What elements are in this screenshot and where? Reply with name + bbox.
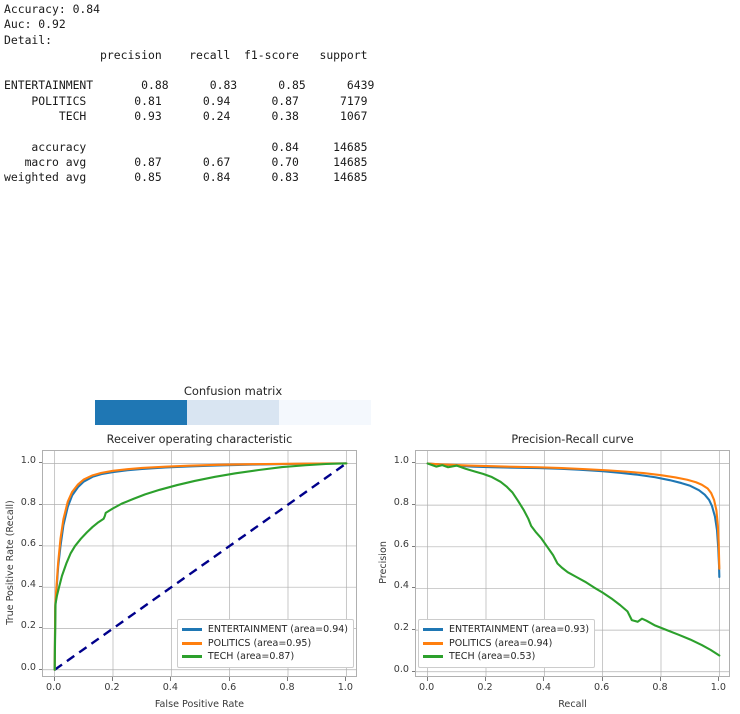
- y-tick-label: 0.4: [10, 579, 36, 590]
- x-tick-mark: [229, 677, 230, 681]
- legend-color-swatch-icon: [182, 655, 202, 658]
- y-tick-mark: [412, 546, 416, 547]
- roc-chart: Receiver operating characteristic False …: [0, 425, 370, 714]
- y-tick-label: 0.8: [10, 497, 36, 508]
- y-tick-mark: [39, 462, 43, 463]
- y-tick-label: 0.6: [10, 538, 36, 549]
- legend-label: TECH (area=0.87): [208, 650, 294, 664]
- x-tick-label: 0.8: [270, 682, 304, 693]
- pr-chart-title: Precision-Recall curve: [415, 433, 730, 446]
- y-tick-label: 0.0: [383, 664, 409, 675]
- legend-color-swatch-icon: [423, 642, 443, 645]
- y-tick-label: 1.0: [383, 455, 409, 466]
- y-tick-mark: [39, 669, 43, 670]
- roc-chart-title: Receiver operating characteristic: [42, 433, 357, 446]
- x-tick-mark: [718, 677, 719, 681]
- confusion-matrix-title: Confusion matrix: [95, 384, 371, 398]
- y-tick-label: 0.2: [10, 620, 36, 631]
- precision-recall-chart: Precision-Recall curve Recall Precision …: [370, 425, 740, 714]
- y-tick-label: 0.2: [383, 622, 409, 633]
- legend-label: POLITICS (area=0.94): [449, 637, 552, 651]
- x-tick-label: 1.0: [701, 682, 735, 693]
- pr-legend: ENTERTAINMENT (area=0.93)POLITICS (area=…: [418, 619, 595, 668]
- x-tick-mark: [287, 677, 288, 681]
- legend-color-swatch-icon: [182, 642, 202, 645]
- legend-item: ENTERTAINMENT (area=0.94): [182, 623, 348, 637]
- x-tick-mark: [112, 677, 113, 681]
- x-tick-mark: [543, 677, 544, 681]
- y-tick-label: 0.6: [383, 539, 409, 550]
- y-tick-mark: [39, 627, 43, 628]
- x-tick-mark: [602, 677, 603, 681]
- legend-item: TECH (area=0.87): [182, 650, 348, 664]
- roc-x-axis-label: False Positive Rate: [42, 699, 357, 710]
- x-tick-label: 0.0: [410, 682, 444, 693]
- x-tick-label: 1.0: [328, 682, 362, 693]
- confusion-matrix-figure: Confusion matrix True ENTERTAINMENT POLI…: [0, 190, 740, 420]
- y-tick-label: 0.4: [383, 580, 409, 591]
- x-tick-label: 0.0: [37, 682, 71, 693]
- x-tick-label: 0.8: [643, 682, 677, 693]
- y-tick-mark: [39, 586, 43, 587]
- legend-item: TECH (area=0.53): [423, 650, 589, 664]
- x-tick-label: 0.4: [526, 682, 560, 693]
- x-tick-label: 0.4: [153, 682, 187, 693]
- legend-label: ENTERTAINMENT (area=0.93): [449, 623, 589, 637]
- x-tick-mark: [485, 677, 486, 681]
- series-line: [428, 464, 720, 578]
- roc-y-axis-label: True Positive Rate (Recall): [5, 449, 16, 676]
- classification-report: Accuracy: 0.84 Auc: 0.92 Detail: precisi…: [4, 2, 374, 186]
- y-tick-mark: [412, 671, 416, 672]
- y-tick-mark: [412, 629, 416, 630]
- y-tick-mark: [412, 504, 416, 505]
- y-tick-label: 0.8: [383, 497, 409, 508]
- x-tick-mark: [54, 677, 55, 681]
- legend-color-swatch-icon: [423, 628, 443, 631]
- x-tick-label: 0.2: [468, 682, 502, 693]
- x-tick-label: 0.6: [585, 682, 619, 693]
- x-tick-mark: [427, 677, 428, 681]
- x-tick-label: 0.6: [212, 682, 246, 693]
- legend-label: TECH (area=0.53): [449, 650, 535, 664]
- y-tick-mark: [412, 462, 416, 463]
- x-tick-label: 0.2: [95, 682, 129, 693]
- y-tick-label: 0.0: [10, 662, 36, 673]
- legend-label: ENTERTAINMENT (area=0.94): [208, 623, 348, 637]
- x-tick-mark: [170, 677, 171, 681]
- legend-color-swatch-icon: [423, 655, 443, 658]
- series-line: [428, 464, 720, 569]
- y-tick-mark: [39, 545, 43, 546]
- pr-y-axis-label: Precision: [378, 449, 389, 676]
- pr-x-axis-label: Recall: [415, 699, 730, 710]
- legend-item: ENTERTAINMENT (area=0.93): [423, 623, 589, 637]
- legend-color-swatch-icon: [182, 628, 202, 631]
- y-tick-label: 1.0: [10, 455, 36, 466]
- legend-label: POLITICS (area=0.95): [208, 637, 311, 651]
- x-tick-mark: [660, 677, 661, 681]
- legend-item: POLITICS (area=0.94): [423, 637, 589, 651]
- y-tick-mark: [412, 587, 416, 588]
- x-tick-mark: [345, 677, 346, 681]
- legend-item: POLITICS (area=0.95): [182, 637, 348, 651]
- y-tick-mark: [39, 504, 43, 505]
- roc-legend: ENTERTAINMENT (area=0.94)POLITICS (area=…: [177, 619, 354, 668]
